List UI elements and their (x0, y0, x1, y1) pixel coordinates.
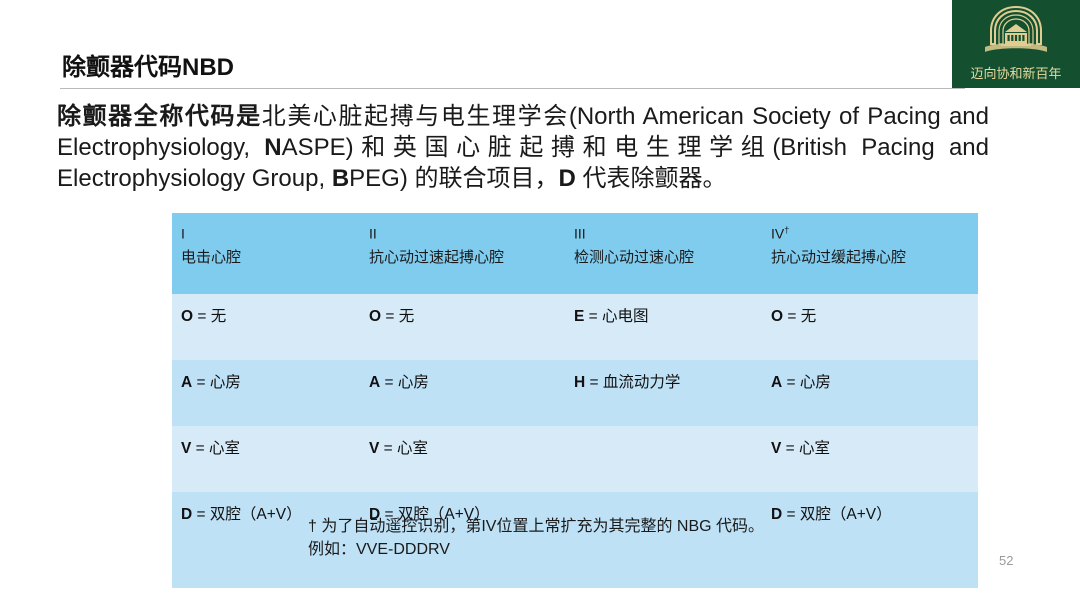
column-numeral: II (369, 222, 565, 242)
column-caption: 抗心动过缓起搏心腔 (771, 247, 978, 268)
title-divider (60, 88, 965, 89)
table-header-row: I 电击心腔 II 抗心动过速起搏心腔 III 检测心动过速心腔 IV† 抗心动… (172, 213, 978, 294)
table-cell: O = 无 (762, 294, 978, 360)
table-filler-cell (360, 558, 565, 588)
table-cell: D = 双腔（A+V） (762, 492, 978, 558)
code-letter: A (369, 374, 380, 391)
table-filler-row (172, 558, 978, 588)
slide-canvas: { "slide": { "title": "除颤器代码NBD", "page_… (0, 0, 1080, 607)
table-header-cell-4: IV† 抗心动过缓起搏心腔 (762, 213, 978, 294)
code-letter: V (181, 440, 191, 457)
code-meaning: = 心房 (782, 374, 831, 391)
code-letter: A (771, 374, 782, 391)
table-row: O = 无 O = 无 E = 心电图 O = 无 (172, 294, 978, 360)
table-cell: H = 血流动力学 (565, 360, 762, 426)
code-meaning: = 心室 (191, 440, 240, 457)
table-cell: V = 心室 (172, 426, 360, 492)
code-meaning: = 无 (193, 308, 226, 325)
code-letter: A (181, 374, 192, 391)
code-meaning: = 心室 (781, 440, 830, 457)
table-cell-empty (565, 426, 762, 492)
page-number: 52 (999, 553, 1013, 568)
code-meaning: = 心电图 (584, 308, 648, 325)
dagger-marker: † (784, 225, 789, 235)
column-caption: 检测心动过速心腔 (574, 247, 762, 268)
column-numeral: IV† (771, 222, 978, 242)
table-cell: A = 心房 (762, 360, 978, 426)
column-numeral: III (574, 222, 762, 242)
logo-script-text: 迈向协和新百年 (952, 63, 1080, 82)
table-cell: E = 心电图 (565, 294, 762, 360)
body-text-3: PEG) 的联合项目， (349, 165, 558, 192)
column-caption: 电击心腔 (181, 247, 360, 268)
code-letter: H (574, 374, 585, 391)
table-filler-cell (172, 558, 360, 588)
table-footnote: † 为了自动遥控识别，第IV位置上常扩充为其完整的 NBG 代码。 例如：VVE… (308, 515, 764, 561)
table-filler-cell (762, 558, 978, 588)
column-caption: 抗心动过速起搏心腔 (369, 247, 565, 268)
code-meaning: = 双腔（A+V） (782, 506, 891, 523)
footnote-line-1: † 为了自动遥控识别，第IV位置上常扩充为其完整的 NBG 代码。 (308, 515, 764, 538)
hospital-logo-badge: 迈向协和新百年 (952, 0, 1080, 88)
body-text-4: 代表除颤器。 (576, 165, 727, 192)
code-letter: V (369, 440, 379, 457)
code-letter: V (771, 440, 781, 457)
table-filler-cell (565, 558, 762, 588)
page-title: 除颤器代码NBD (62, 47, 234, 82)
body-lead-bold: 除颤器全称代码是 (57, 103, 262, 130)
code-letter: E (574, 308, 584, 325)
table-cell: O = 无 (172, 294, 360, 360)
body-bold-b: B (332, 165, 349, 192)
table-cell: V = 心室 (762, 426, 978, 492)
code-letter: O (181, 308, 193, 325)
table-row: V = 心室 V = 心室 V = 心室 (172, 426, 978, 492)
code-meaning: = 心房 (192, 374, 241, 391)
table-header-cell-3: III 检测心动过速心腔 (565, 213, 762, 294)
pumch-hospital-emblem-icon (979, 4, 1053, 58)
column-numeral: I (181, 222, 360, 242)
table-row: A = 心房 A = 心房 H = 血流动力学 A = 心房 (172, 360, 978, 426)
body-paragraph: 除颤器全称代码是北美心脏起搏与电生理学会(North American Soci… (57, 101, 989, 194)
code-meaning: = 心室 (379, 440, 428, 457)
table-header-cell-2: II 抗心动过速起搏心腔 (360, 213, 565, 294)
code-meaning: = 无 (381, 308, 414, 325)
code-letter: O (771, 308, 783, 325)
table-cell: A = 心房 (172, 360, 360, 426)
code-meaning: = 血流动力学 (585, 374, 680, 391)
code-letter: O (369, 308, 381, 325)
code-meaning: = 心房 (380, 374, 429, 391)
code-meaning: = 无 (783, 308, 816, 325)
table-cell: A = 心房 (360, 360, 565, 426)
code-letter: D (771, 506, 782, 523)
code-letter: D (181, 506, 192, 523)
body-bold-d: D (559, 165, 576, 192)
table-cell: O = 无 (360, 294, 565, 360)
table-cell: V = 心室 (360, 426, 565, 492)
table-header-cell-1: I 电击心腔 (172, 213, 360, 294)
code-meaning: = 双腔（A+V） (192, 506, 301, 523)
body-bold-n: N (264, 134, 281, 161)
footnote-line-2: 例如：VVE-DDDRV (308, 538, 764, 561)
